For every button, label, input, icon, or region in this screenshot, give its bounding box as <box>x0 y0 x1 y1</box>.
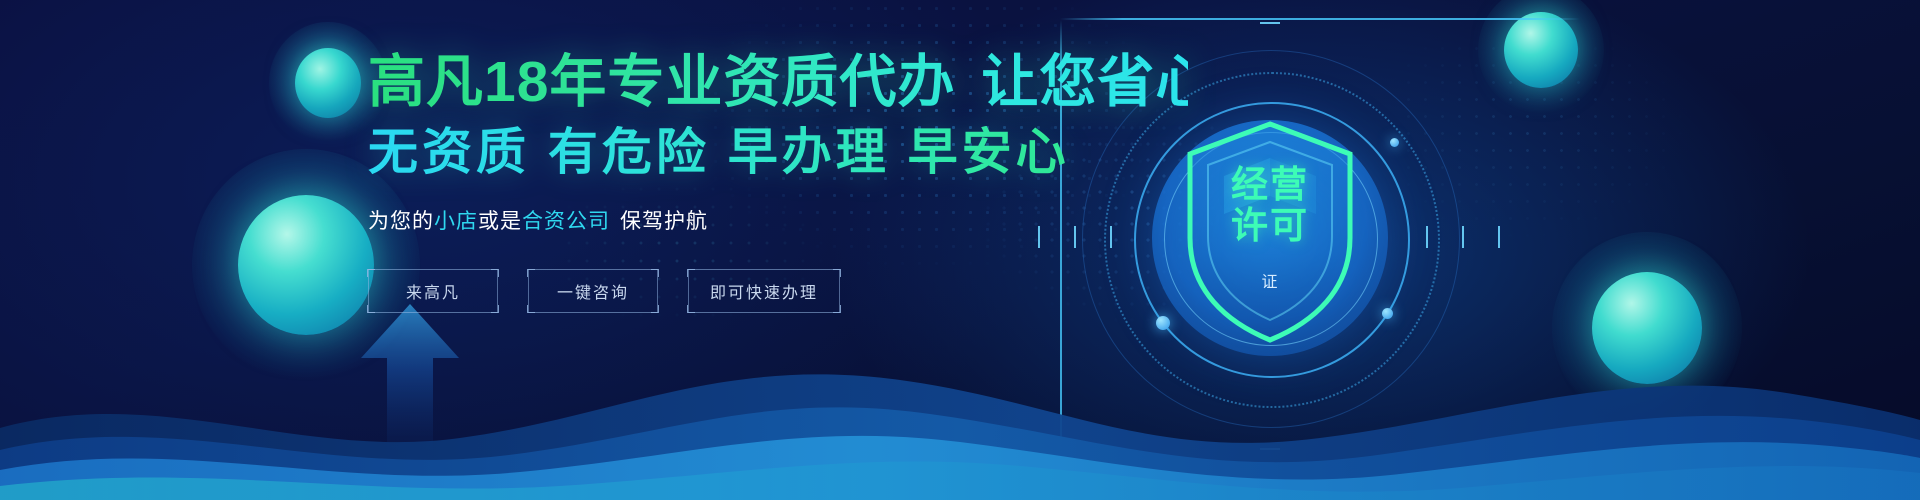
corner-notch <box>367 305 375 313</box>
tag-item-2[interactable]: 一键咨询 <box>528 269 658 313</box>
tagline-highlight-2: 合资公司 <box>522 210 610 233</box>
tag-item-1-label: 来高凡 <box>406 285 460 302</box>
tick-mark <box>1260 22 1280 24</box>
corner-notch <box>527 305 535 313</box>
tag-item-2-label: 一键咨询 <box>557 285 629 302</box>
corner-notch <box>651 269 659 277</box>
decorative-sphere <box>1504 12 1578 88</box>
wave-decoration <box>0 310 1920 500</box>
shield-label-line2: 许可 <box>1231 205 1309 246</box>
tagline-suffix: 保驾护航 <box>620 210 708 233</box>
tick-mark <box>1462 226 1464 248</box>
tagline-highlight-1: 小店 <box>434 210 478 233</box>
corner-notch <box>491 305 499 313</box>
corner-notch <box>491 269 499 277</box>
tick-mark <box>1426 226 1428 248</box>
corner-notch <box>833 305 841 313</box>
tagline: 为您的小店或是合资公司保驾护航 <box>368 205 1188 235</box>
crosshair-horizontal-icon <box>1060 18 1580 20</box>
corner-notch <box>651 305 659 313</box>
decorative-sphere <box>295 48 361 118</box>
promo-banner: 经营 许可 证 高凡18年专业资质代办让您省心更省力 <box>0 0 1920 500</box>
tick-mark <box>1498 226 1500 248</box>
corner-notch <box>367 269 375 277</box>
corner-notch <box>833 269 841 277</box>
tag-item-3[interactable]: 即可快速办理 <box>688 269 840 313</box>
shield-label: 经营 许可 <box>1180 164 1360 247</box>
sphere-core <box>295 48 361 118</box>
shield-sublabel: 证 <box>1180 268 1360 292</box>
headline-part1: 高凡18年专业资质代办 <box>368 50 955 114</box>
tag-item-3-label: 即可快速办理 <box>710 285 818 302</box>
shield-label-line1: 经营 <box>1231 164 1309 205</box>
tagline-prefix: 为您的 <box>368 210 434 233</box>
subheadline: 无资质 有危险 早办理 早安心 <box>368 126 1188 179</box>
node-dot <box>1390 138 1399 147</box>
sphere-core <box>1504 12 1578 88</box>
tag-list: 来高凡 一键咨询 即可快速办理 <box>368 269 1188 313</box>
banner-copy: 高凡18年专业资质代办让您省心更省力 无资质 有危险 早办理 早安心 为您的小店… <box>368 52 1188 313</box>
tag-item-1[interactable]: 来高凡 <box>368 269 498 313</box>
tagline-middle: 或是 <box>478 210 522 233</box>
corner-notch <box>687 269 695 277</box>
corner-notch <box>527 269 535 277</box>
corner-notch <box>687 305 695 313</box>
page-title: 高凡18年专业资质代办让您省心更省力 <box>368 52 1188 112</box>
headline-part2: 让您省心更省力 <box>981 50 1387 114</box>
